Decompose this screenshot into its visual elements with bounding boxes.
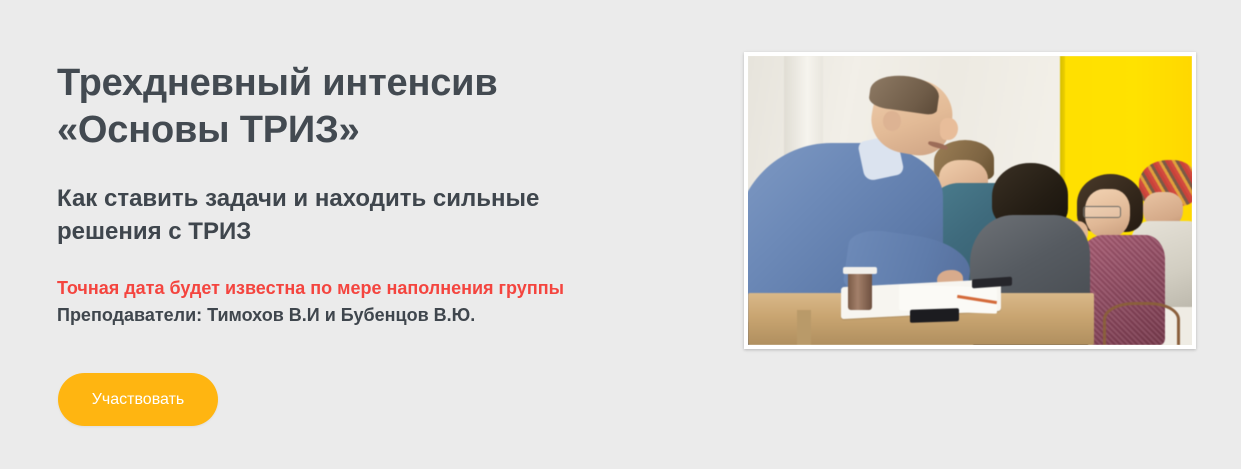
coffee-cup-lid [843, 267, 877, 275]
phone-on-table [910, 308, 959, 323]
chair-back-right [1103, 302, 1180, 345]
hero-photo-frame [744, 52, 1196, 349]
hero-text-column: Трехдневный интенсив «Основы ТРИЗ» Как с… [57, 60, 707, 328]
classroom-photo [748, 56, 1192, 345]
hero-subtitle: Как ставить задачи и находить сильные ре… [57, 154, 707, 248]
coffee-cup [848, 271, 872, 310]
page-title: Трехдневный интенсив «Основы ТРИЗ» [57, 60, 707, 154]
table-leg [797, 310, 811, 345]
participate-button[interactable]: Участвовать [58, 373, 218, 426]
eyeglasses-icon [1083, 206, 1121, 217]
date-notice: Точная дата будет известна по мере напол… [57, 248, 707, 301]
hero-section: Трехдневный интенсив «Основы ТРИЗ» Как с… [0, 0, 1241, 469]
teachers-line: Преподаватели: Тимохов В.И и Бубенцов В.… [57, 301, 707, 328]
